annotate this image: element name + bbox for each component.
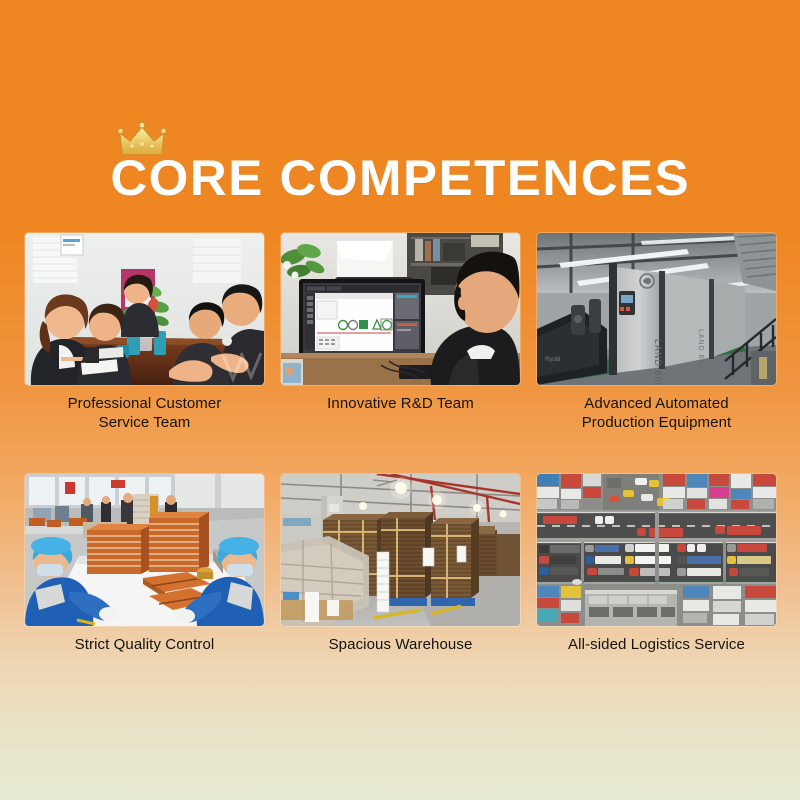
svg-text:Ryobi: Ryobi <box>545 357 560 363</box>
svg-text:LAND 800: LAND 800 <box>697 329 704 369</box>
caption-line-1: Professional Customer <box>68 395 222 412</box>
card-caption: Strict Quality Control <box>25 635 264 654</box>
caption-line-2: Production Equipment <box>582 414 732 431</box>
competence-card: All-sided Logistics Service <box>537 474 776 654</box>
caption-line-1: Advanced Automated <box>584 395 728 412</box>
competence-card: Strict Quality Control <box>25 474 264 654</box>
competences-grid: Professional Customer Service Team <box>25 233 775 654</box>
designer-at-computer-photo: AOC <box>281 233 520 385</box>
page-title: CORE COMPETENCES <box>110 150 690 206</box>
competence-card: Spacious Warehouse <box>281 474 520 654</box>
card-caption: Innovative R&D Team <box>281 394 520 413</box>
caption-line-1: All-sided Logistics Service <box>568 636 745 653</box>
logistics-port-aerial-photo <box>537 474 776 626</box>
card-caption: All-sided Logistics Service <box>537 635 776 654</box>
meeting-room-photo <box>25 233 264 385</box>
card-caption: Advanced Automated Production Equipment <box>537 394 776 432</box>
competence-card: LAND 800 LAND 800 Ryobi <box>537 233 776 432</box>
competence-card: Professional Customer Service Team <box>25 233 264 432</box>
warehouse-photo <box>281 474 520 626</box>
core-competences-poster: CORE COMPETENCES <box>0 0 800 800</box>
caption-line-2: Service Team <box>99 414 191 431</box>
caption-line-1: Innovative R&D Team <box>327 395 474 412</box>
printing-press-photo: LAND 800 LAND 800 Ryobi <box>537 233 776 385</box>
card-caption: Spacious Warehouse <box>281 635 520 654</box>
svg-text:LAND 800: LAND 800 <box>653 339 663 385</box>
page-header: CORE COMPETENCES <box>0 150 800 206</box>
quality-control-photo <box>25 474 264 626</box>
card-caption: Professional Customer Service Team <box>25 394 264 432</box>
competence-card: AOC <box>281 233 520 432</box>
caption-line-1: Spacious Warehouse <box>329 636 473 653</box>
caption-line-1: Strict Quality Control <box>75 636 215 653</box>
